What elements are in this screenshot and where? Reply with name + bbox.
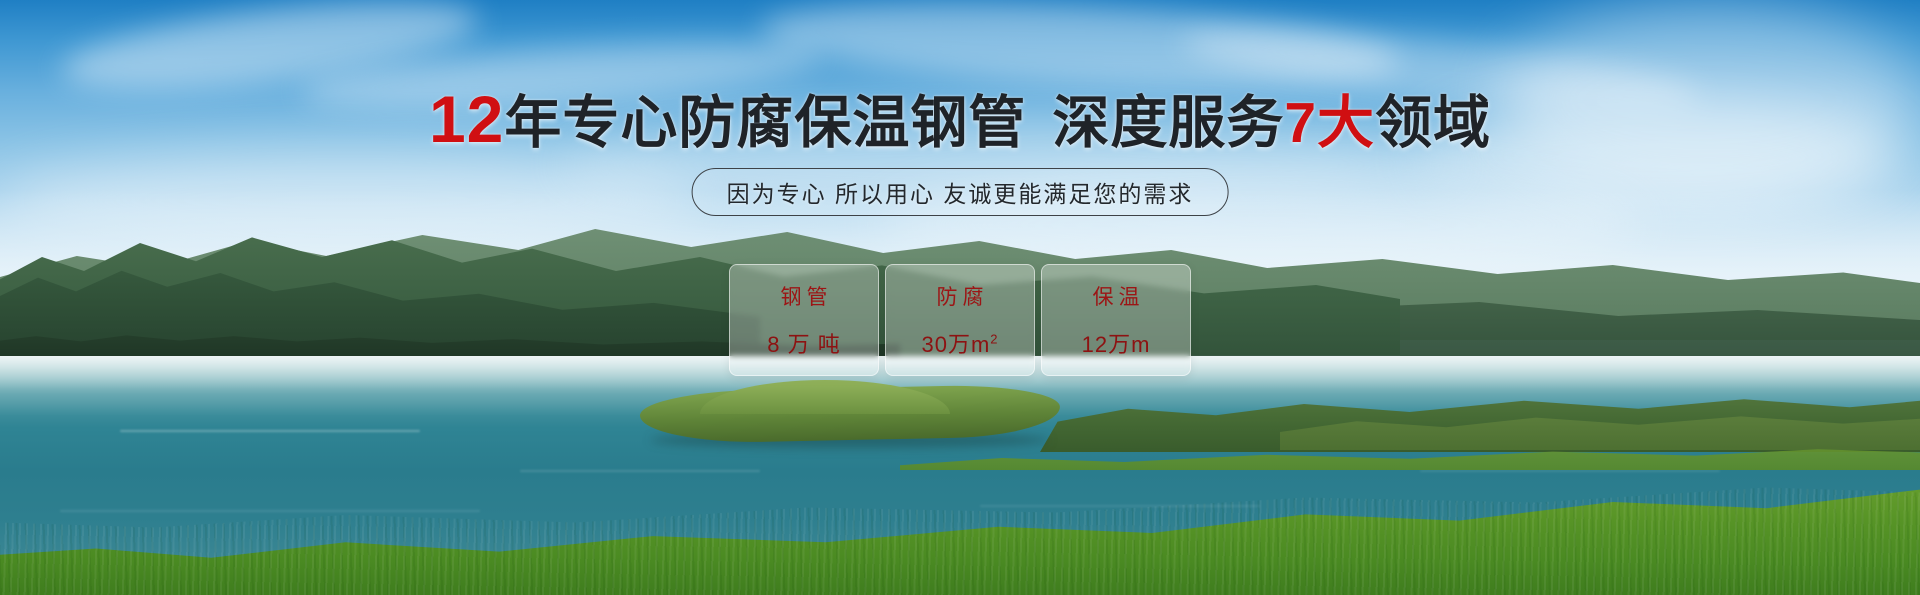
headline-years-number: 12 bbox=[429, 82, 504, 156]
stat-card-value: 12万m bbox=[1082, 327, 1151, 359]
water-ripple bbox=[120, 430, 420, 432]
banner-headline: 12年专心防腐保温钢管深度服务7大领域 bbox=[0, 88, 1920, 154]
banner-subtitle-text: 因为专心 所以用心 友诚更能满足您的需求 bbox=[727, 175, 1194, 209]
hero-banner: 12年专心防腐保温钢管深度服务7大领域 因为专心 所以用心 友诚更能满足您的需求… bbox=[0, 0, 1920, 595]
stat-card-value-text: 30万m bbox=[921, 332, 990, 357]
stat-card-value-text: 12万m bbox=[1082, 332, 1151, 357]
headline-part-three: 领域 bbox=[1375, 91, 1491, 155]
stat-card-label: 钢管 bbox=[776, 281, 833, 311]
headline-fields-number: 7大 bbox=[1284, 91, 1375, 155]
stat-card-list: 钢管 8 万 吨 防腐 30万m2 保温 12万m bbox=[729, 264, 1191, 376]
stat-card-insulation[interactable]: 保温 12万m bbox=[1041, 264, 1191, 376]
stat-card-value-sup: 2 bbox=[990, 332, 998, 347]
headline-part-one: 年专心防腐保温钢管 bbox=[504, 91, 1026, 155]
water-ripple bbox=[60, 510, 480, 512]
water-ripple bbox=[520, 470, 760, 472]
stat-card-label: 保温 bbox=[1088, 281, 1145, 311]
stat-card-value-text: 8 万 吨 bbox=[767, 332, 840, 357]
stat-card-steel-pipe[interactable]: 钢管 8 万 吨 bbox=[729, 264, 879, 376]
stat-card-label: 防腐 bbox=[932, 281, 989, 311]
headline-part-two: 深度服务 bbox=[1052, 91, 1284, 155]
stat-card-value: 30万m2 bbox=[921, 327, 998, 359]
stat-card-value: 8 万 吨 bbox=[767, 327, 840, 359]
water-ripple bbox=[1420, 470, 1720, 472]
banner-subtitle-pill: 因为专心 所以用心 友诚更能满足您的需求 bbox=[692, 168, 1229, 216]
stat-card-anticorrosion[interactable]: 防腐 30万m2 bbox=[885, 264, 1035, 376]
